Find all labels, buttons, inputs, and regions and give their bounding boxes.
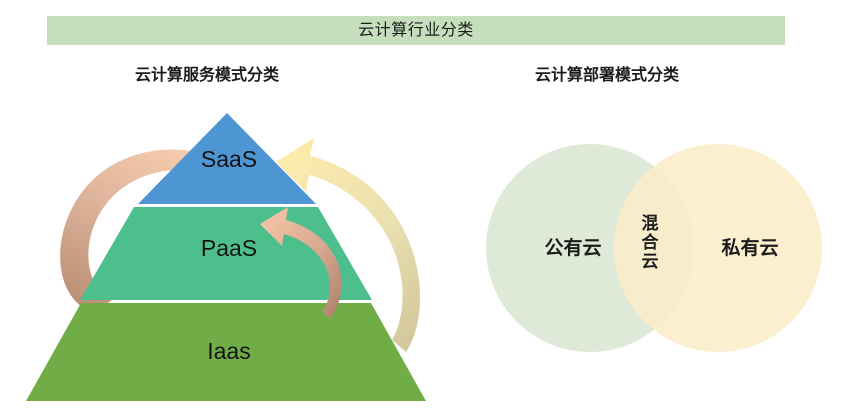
venn-label-hybrid-cloud: 混合云 [630,196,666,288]
pyramid-label-saas: SaaS [14,148,444,171]
service-model-pyramid: SaaS PaaS Iaas [14,100,444,413]
pyramid-label-paas: PaaS [14,237,444,260]
deployment-model-venn: 公有云 私有云 混合云 [470,118,850,378]
infographic-canvas: 云计算行业分类 云计算服务模式分类 云计算部署模式分类 [0,0,865,413]
page-title: 云计算行业分类 [358,23,474,39]
section-heading-deployment-models: 云计算部署模式分类 [535,68,679,84]
page-title-banner: 云计算行业分类 [47,16,785,45]
section-heading-service-models: 云计算服务模式分类 [135,68,279,84]
pyramid-label-iaas: Iaas [14,340,444,363]
venn-label-private-cloud: 私有云 [685,239,815,258]
venn-label-public-cloud: 公有云 [508,239,638,258]
